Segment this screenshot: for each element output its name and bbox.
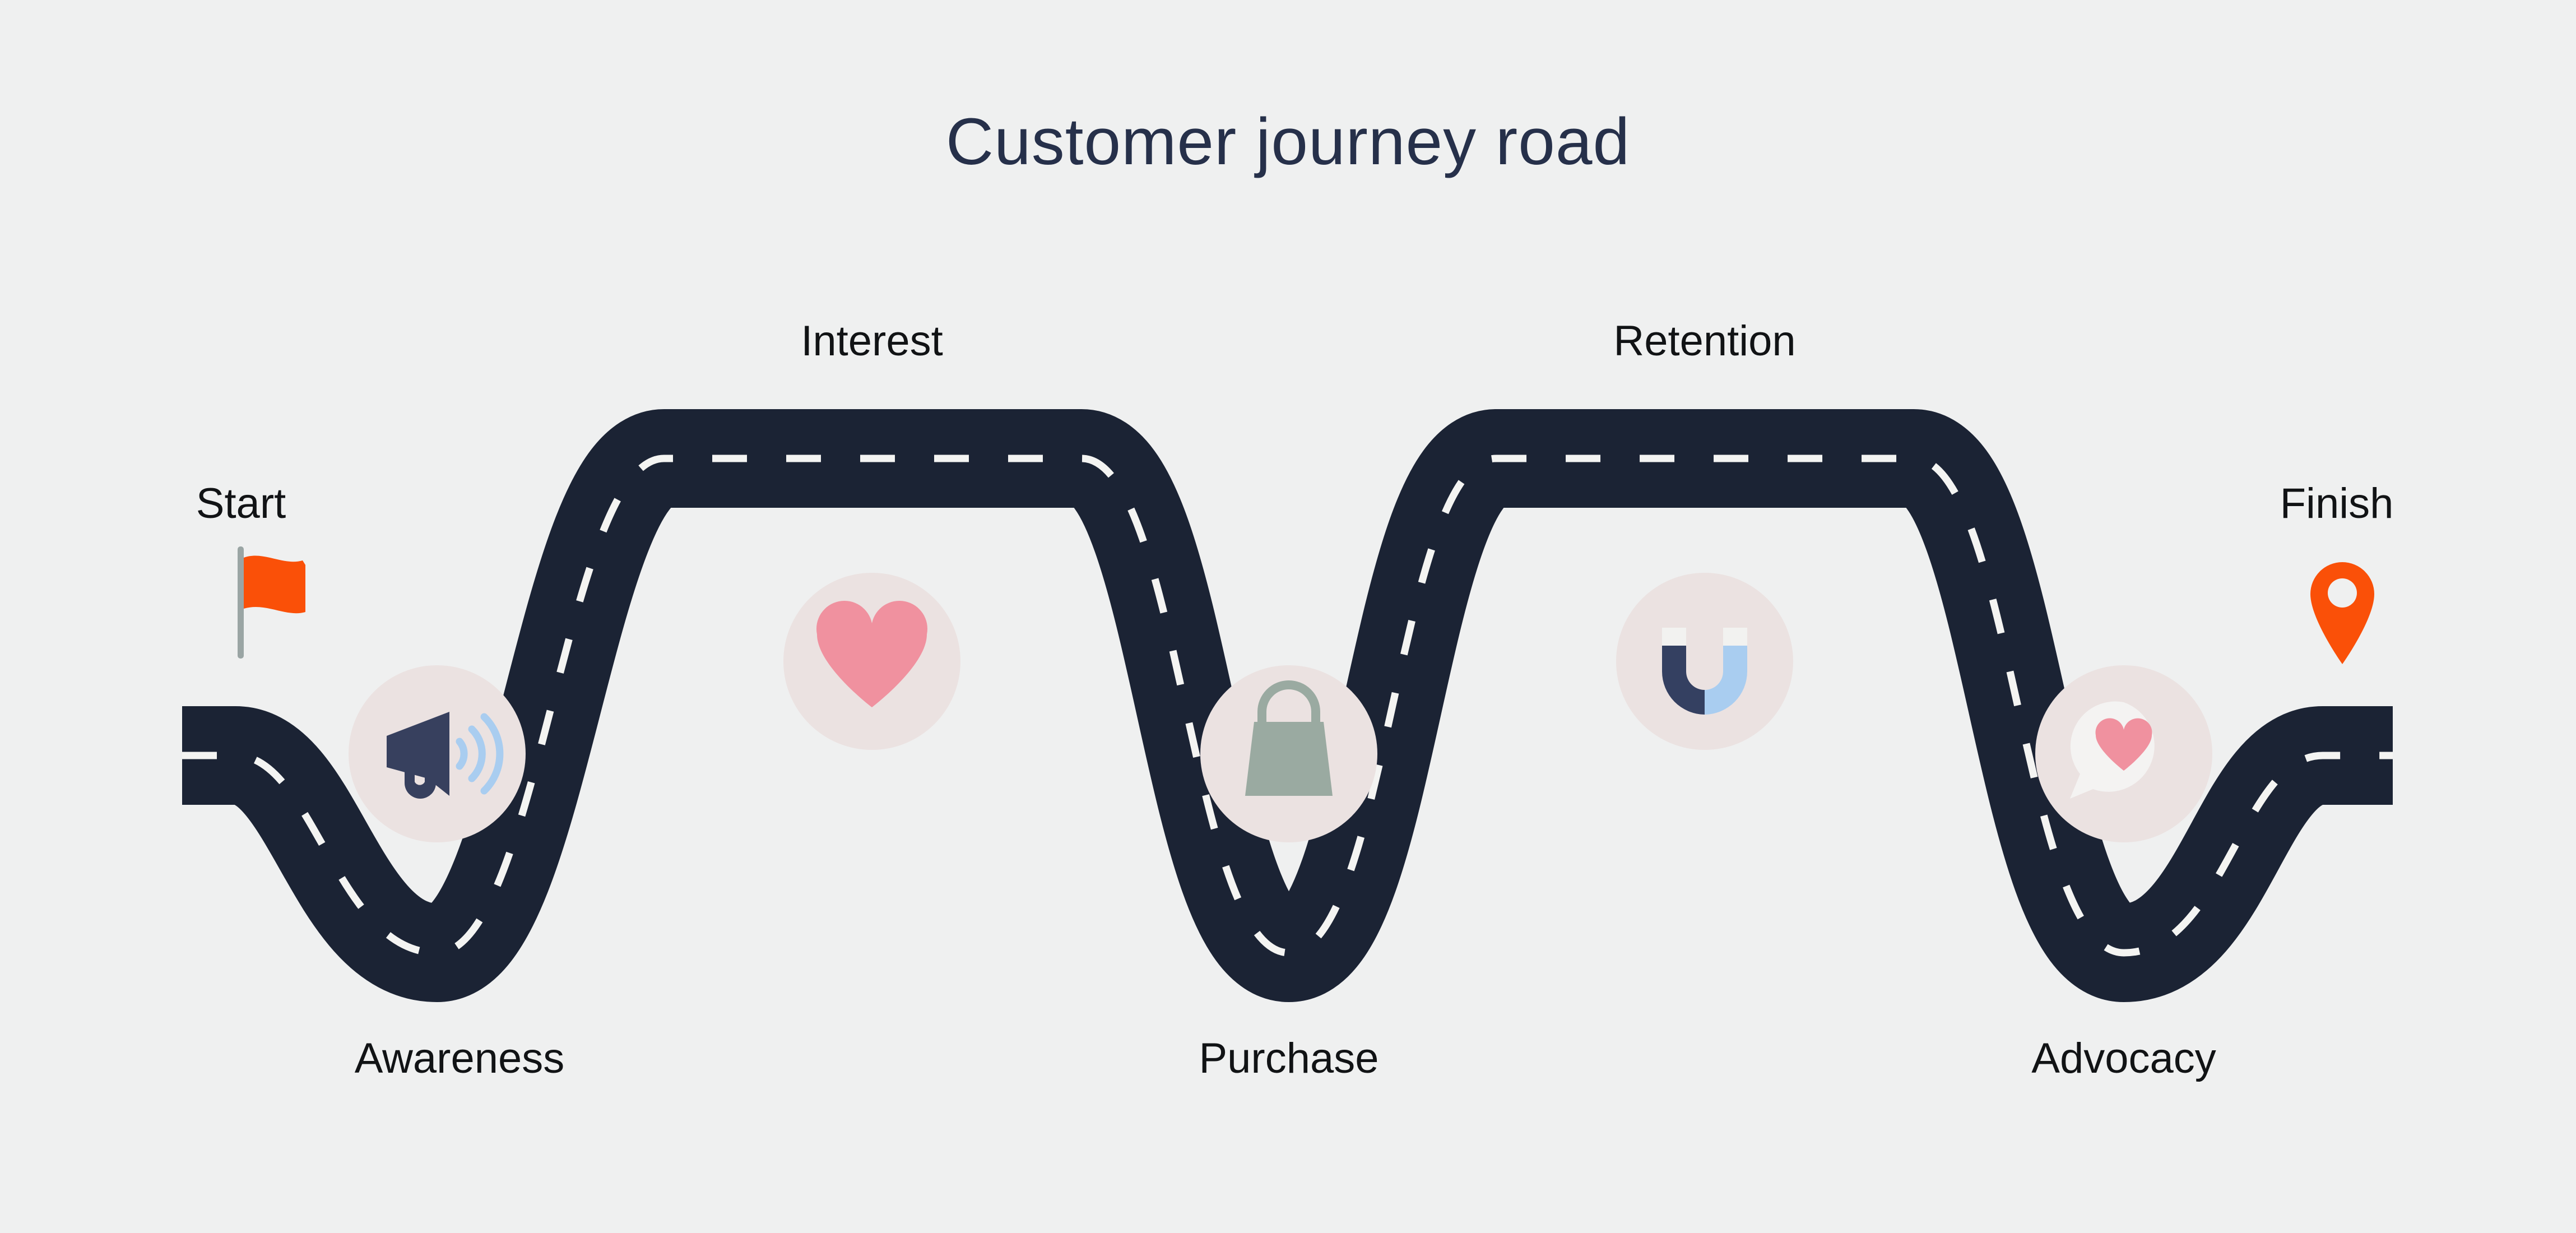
map-pin-hole [2328, 578, 2357, 608]
stage-node-purchase[interactable] [1200, 665, 1377, 842]
stage-label-interest: Interest [801, 317, 943, 365]
flag-pole-icon [238, 546, 244, 659]
endpoint-label-start: Start [196, 479, 286, 528]
flag-icon [244, 555, 305, 613]
stage-label-retention: Retention [1613, 317, 1795, 365]
icon-circle-retention [1616, 573, 1793, 750]
customer-journey-road-infographic: Customer journey road [0, 0, 2576, 1233]
stage-node-retention[interactable] [1616, 573, 1793, 750]
stage-label-awareness: Awareness [355, 1034, 565, 1083]
stage-label-advocacy: Advocacy [2031, 1034, 2216, 1083]
stage-node-awareness[interactable] [349, 665, 526, 842]
finish-marker [2310, 562, 2374, 664]
stage-label-purchase: Purchase [1199, 1034, 1378, 1083]
stage-node-advocacy[interactable] [2035, 665, 2212, 842]
map-pin-icon [2310, 562, 2374, 664]
endpoint-label-finish: Finish [2280, 479, 2394, 528]
stage-node-interest[interactable] [783, 573, 960, 750]
start-marker [238, 546, 305, 659]
